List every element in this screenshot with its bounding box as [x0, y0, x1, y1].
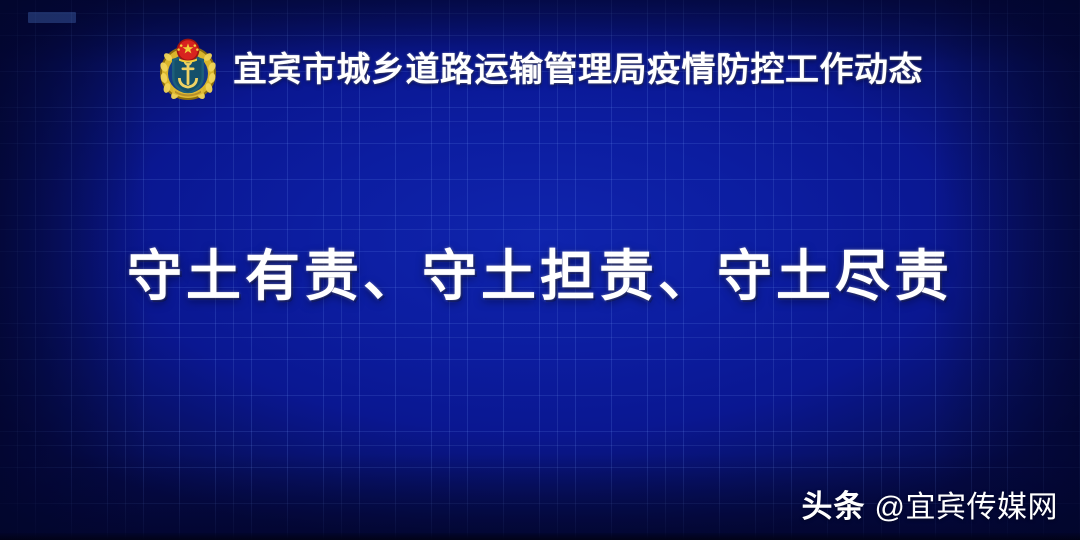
top-left-highlight-bar: [28, 12, 76, 23]
page-title: 宜宾市城乡道路运输管理局疫情防控工作动态: [233, 53, 923, 87]
slide-header: 宜宾市城乡道路运输管理局疫情防控工作动态: [0, 34, 1080, 106]
slide-canvas: 宜宾市城乡道路运输管理局疫情防控工作动态 守土有责、守土担责、守土尽责 头条 @…: [0, 0, 1080, 540]
watermark-handle: @宜宾传媒网: [875, 482, 1058, 526]
transport-administration-emblem-icon: [157, 37, 219, 103]
watermark: 头条 @宜宾传媒网: [802, 481, 1058, 526]
watermark-brand: 头条: [802, 481, 866, 526]
slide-headline: 守土有责、守土担责、守土尽责: [0, 248, 1080, 306]
background-bottom-edge: [0, 533, 1080, 540]
